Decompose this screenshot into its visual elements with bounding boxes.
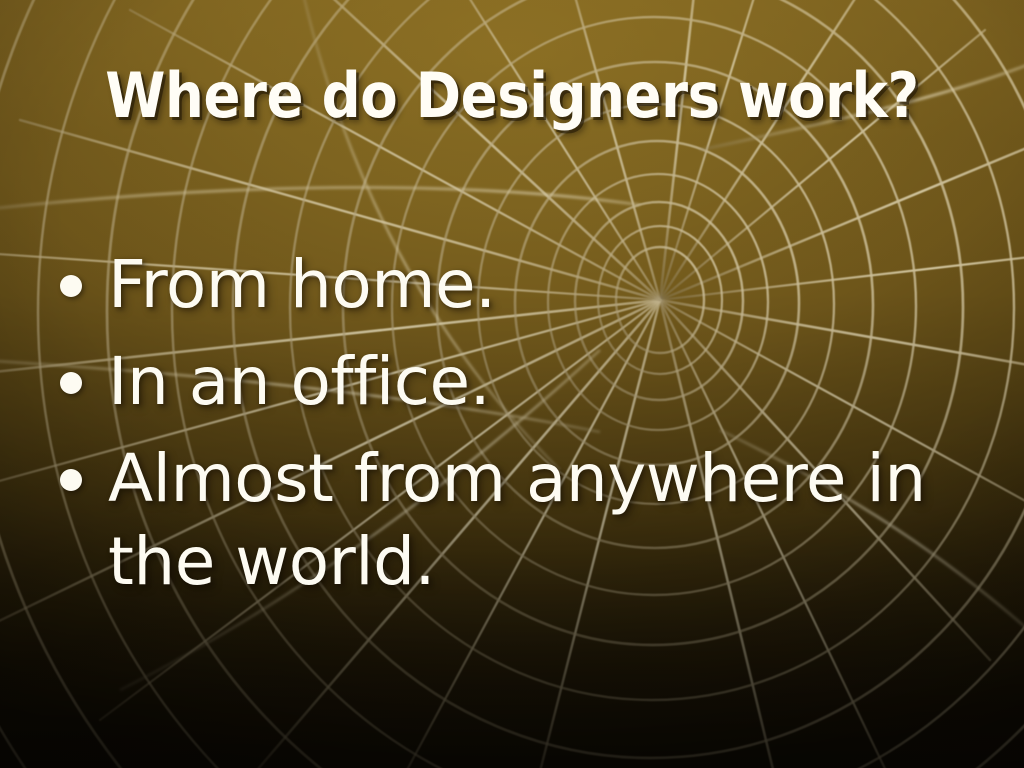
bullet-dot-icon — [60, 372, 82, 394]
bullet-text: From home. — [108, 243, 960, 326]
bullet-dot-icon — [60, 469, 82, 491]
presentation-slide: Where do Designers work? From home. In a… — [0, 0, 1024, 768]
bullet-dot-icon — [60, 275, 82, 297]
slide-title: Where do Designers work? — [61, 64, 962, 127]
bullet-item: From home. — [60, 243, 960, 326]
bullet-list: From home. In an office. Almost from any… — [60, 243, 960, 618]
bullet-text: In an office. — [108, 340, 960, 423]
bullet-item: In an office. — [60, 340, 960, 423]
bullet-item: Almost from anywhere in the world. — [60, 437, 960, 603]
slide-content: Where do Designers work? From home. In a… — [0, 0, 1024, 768]
bullet-text: Almost from anywhere in the world. — [108, 437, 960, 603]
